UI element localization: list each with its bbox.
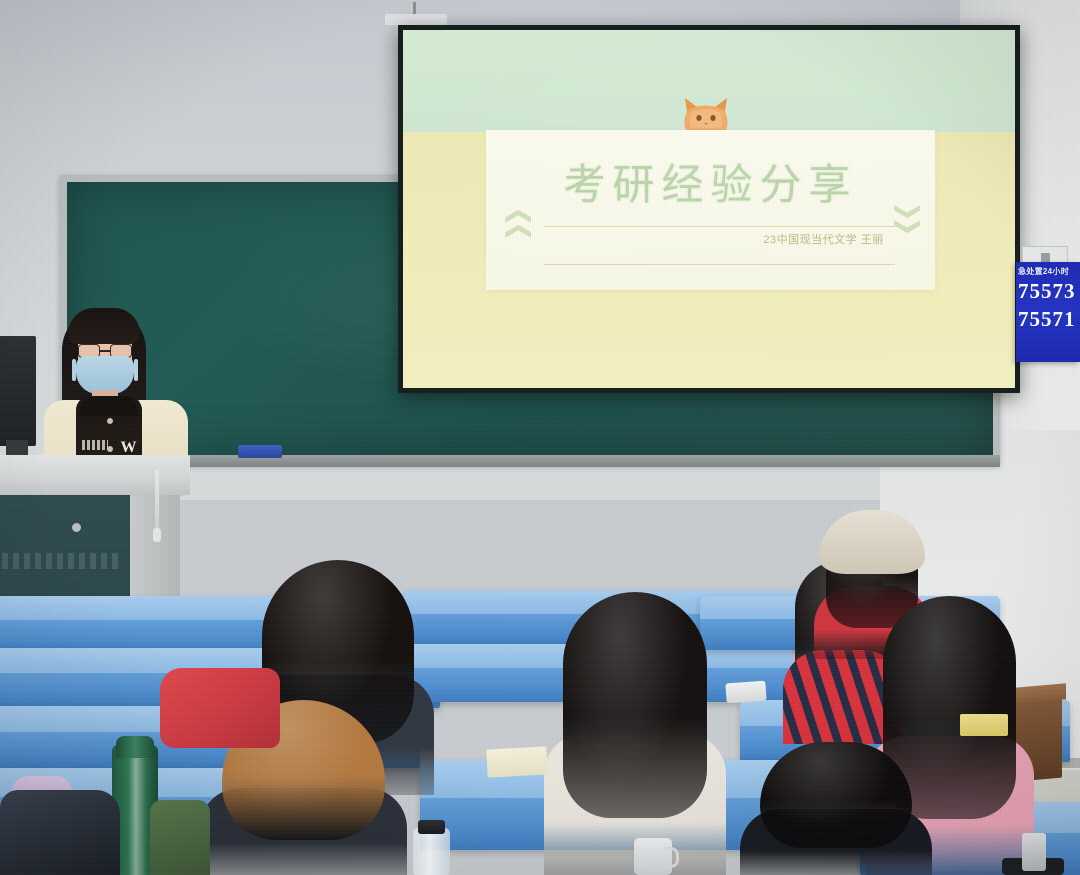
- sign-number-1: 75573: [1016, 277, 1080, 305]
- slide-rule-top: [544, 226, 895, 227]
- face-mask: [76, 356, 134, 394]
- slide-title: 考研经验分享: [486, 151, 936, 212]
- student-black-ponytail-front: [736, 742, 936, 875]
- slide-title-card: 考研经验分享 23中国现当代文学 王丽: [486, 130, 936, 289]
- emergency-phone-sign: 急处置24小时 75573 75571: [1016, 262, 1080, 362]
- cat-icon: [680, 96, 732, 130]
- projector-screen: 考研经验分享 23中国现当代文学 王丽: [398, 25, 1020, 393]
- student-white-fleece: [540, 592, 730, 875]
- dark-backpack: [0, 790, 120, 875]
- student-hair: [563, 592, 707, 818]
- podium-desktop: [0, 455, 190, 495]
- board-eraser: [238, 445, 282, 458]
- white-mug: [634, 838, 672, 875]
- smartphone-holder: [1022, 833, 1046, 871]
- baseball-cap: [819, 510, 925, 574]
- podium-label: [2, 553, 122, 569]
- sign-number-2: 75571: [1016, 305, 1080, 333]
- presenter-fringe: [68, 308, 140, 344]
- screen-mount-bracket: [385, 14, 447, 25]
- water-bottle-cap: [418, 820, 445, 834]
- podium-monitor: [0, 336, 36, 446]
- jacket-button: [107, 418, 113, 424]
- green-bag: [150, 800, 210, 875]
- presentation-slide: 考研经验分享 23中国现当代文学 王丽: [403, 30, 1015, 388]
- chevron-down-icon: [890, 205, 924, 235]
- blackboard-chalk-ledge: [62, 455, 1000, 467]
- red-backpack: [160, 668, 280, 748]
- yellow-paper: [486, 746, 547, 777]
- yellow-paper: [960, 714, 1008, 736]
- slide-subtitle: 23中国现当代文学 王丽: [763, 231, 883, 247]
- sign-header: 急处置24小时: [1016, 266, 1080, 277]
- podium-lock: [72, 523, 81, 532]
- water-bottle: [413, 828, 450, 875]
- jacket-text-patch: [82, 440, 108, 450]
- jacket-collar: [80, 396, 138, 416]
- thermos-cap: [116, 736, 154, 758]
- student-hair: [760, 742, 912, 848]
- podium-cable: [155, 470, 159, 530]
- smartphone-on-desk: [725, 681, 766, 704]
- classroom-photo: 考研经验分享 23中国现当代文学 王丽 急处置24小时 75573 75571: [0, 0, 1080, 875]
- chevron-up-icon: [501, 210, 535, 240]
- slide-rule-bottom: [544, 264, 895, 265]
